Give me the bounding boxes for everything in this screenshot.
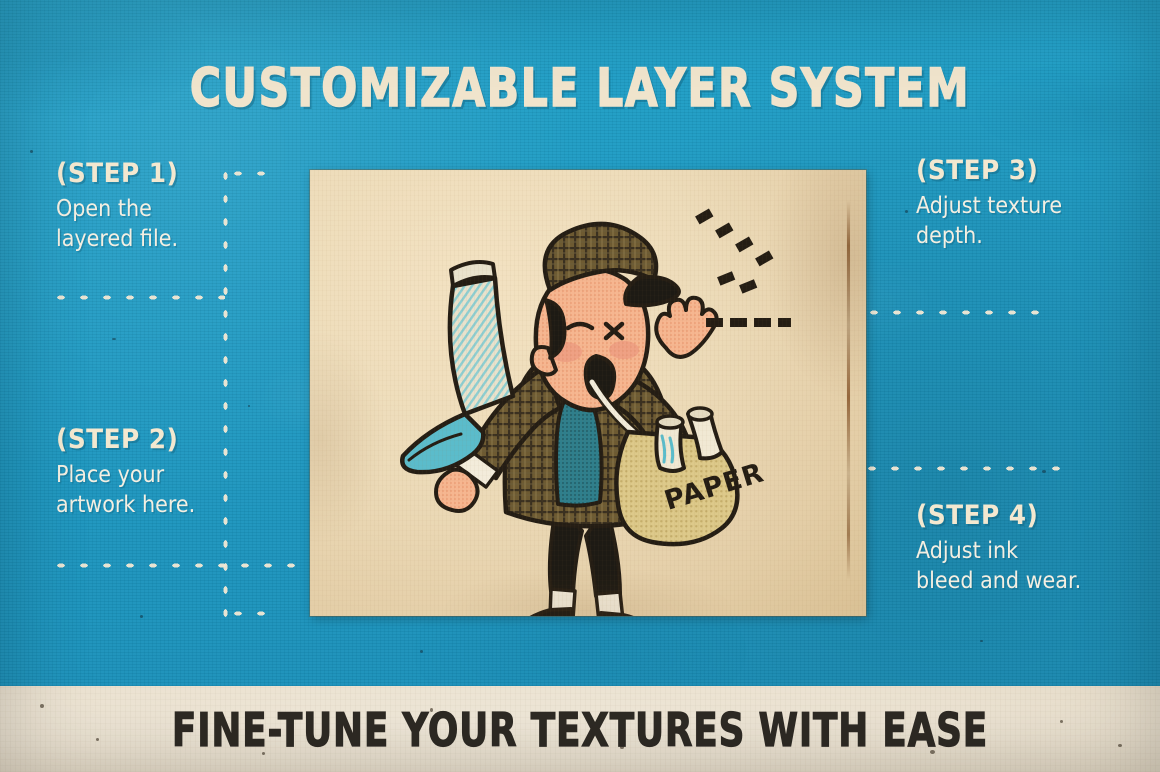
step-2-line-1: Place your bbox=[56, 461, 281, 491]
step-2-label: (STEP 2) bbox=[56, 424, 286, 455]
guide-line-step1 bbox=[55, 294, 225, 301]
step-4-line-2: bleed and wear. bbox=[916, 567, 1141, 597]
speck bbox=[30, 150, 33, 153]
guide-line-step2 bbox=[55, 562, 313, 569]
step-block-2: (STEP 2) Place your artwork here. bbox=[56, 424, 306, 521]
footer-banner: FINE-TUNE YOUR TEXTURES WITH EASE bbox=[0, 686, 1160, 772]
step-1-label: (STEP 1) bbox=[56, 158, 286, 189]
step-block-1: (STEP 1) Open the layered file. bbox=[56, 158, 306, 255]
step-block-3: (STEP 3) Adjust texture depth. bbox=[916, 155, 1160, 252]
speck bbox=[112, 338, 116, 340]
step-1-line-1: Open the bbox=[56, 195, 281, 225]
speck bbox=[420, 650, 423, 653]
step-2-description: Place your artwork here. bbox=[56, 461, 281, 521]
step-3-line-2: depth. bbox=[916, 222, 1141, 252]
guide-line-step3 bbox=[868, 309, 1048, 316]
footer-title: FINE-TUNE YOUR TEXTURES WITH EASE bbox=[128, 703, 1033, 757]
step-3-description: Adjust texture depth. bbox=[916, 192, 1141, 252]
speck bbox=[980, 640, 983, 642]
step-1-line-2: layered file. bbox=[56, 225, 281, 255]
step-4-label: (STEP 4) bbox=[916, 500, 1146, 531]
newsboy-illustration: PAPER bbox=[310, 170, 866, 616]
step-4-line-1: Adjust ink bbox=[916, 537, 1141, 567]
step-1-description: Open the layered file. bbox=[56, 195, 281, 255]
banner-speck bbox=[1118, 744, 1122, 747]
banner-speck bbox=[1060, 720, 1063, 723]
step-3-line-1: Adjust texture bbox=[916, 192, 1141, 222]
speck bbox=[248, 405, 250, 407]
guide-line-step4 bbox=[866, 465, 1066, 472]
guide-line-bottom-left-stub bbox=[232, 610, 280, 617]
step-block-4: (STEP 4) Adjust ink bleed and wear. bbox=[916, 500, 1160, 597]
speck bbox=[905, 210, 908, 213]
step-4-description: Adjust ink bleed and wear. bbox=[916, 537, 1141, 597]
banner-speck bbox=[96, 738, 99, 741]
page-title: CUSTOMIZABLE LAYER SYSTEM bbox=[116, 58, 1044, 119]
poster-canvas: CUSTOMIZABLE LAYER SYSTEM (STEP 1) Open … bbox=[0, 0, 1160, 772]
step-3-label: (STEP 3) bbox=[916, 155, 1146, 186]
step-2-line-2: artwork here. bbox=[56, 491, 281, 521]
artwork-placeholder-card[interactable]: PAPER bbox=[310, 170, 866, 616]
banner-speck bbox=[40, 704, 44, 708]
speck bbox=[140, 615, 143, 618]
